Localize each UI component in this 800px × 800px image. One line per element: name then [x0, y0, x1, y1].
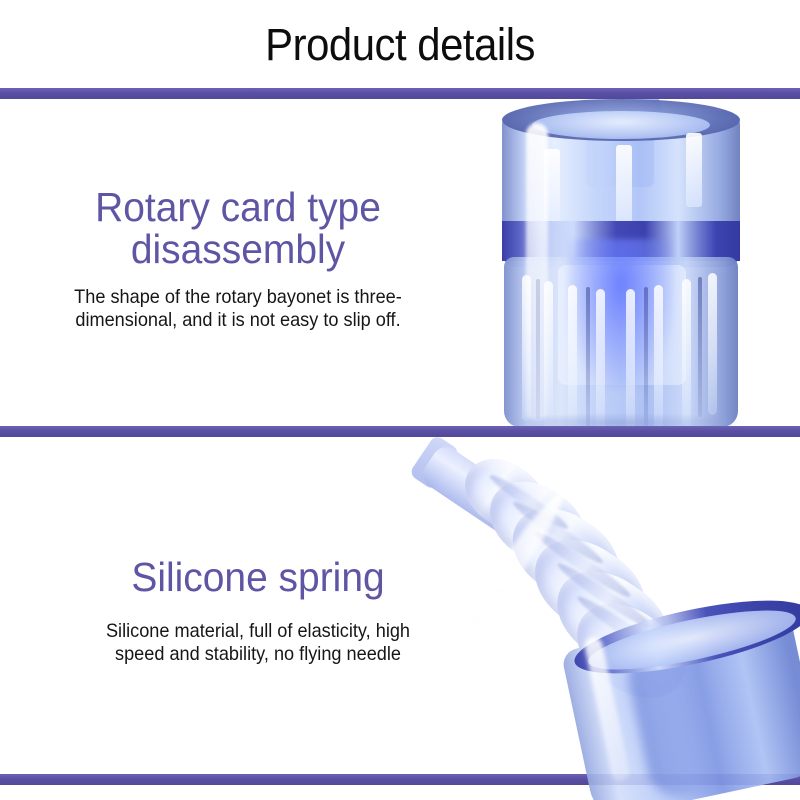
cartridge-rib-shadow [644, 287, 648, 426]
section-silicone-text: Silicone spring Silicone material, full … [48, 556, 468, 666]
section-silicone-body-line2: speed and stability, no flying needle [63, 643, 454, 666]
page-title-bar: Product details [0, 0, 800, 88]
section-rotary-heading-line1: Rotary card type [39, 186, 438, 228]
section-rotary-heading: Rotary card type disassembly [39, 186, 438, 270]
section-silicone-body: Silicone material, full of elasticity, h… [63, 620, 454, 666]
section-rotary-body-line1: The shape of the rotary bayonet is three… [43, 286, 434, 309]
cartridge-illustration [440, 89, 800, 426]
section-silicone-heading-line1: Silicone spring [59, 556, 458, 598]
cartridge-bayonet-notch [686, 133, 702, 207]
cartridge-left-highlight [526, 123, 548, 421]
page-title: Product details [265, 22, 535, 67]
product-details-infographic: Product details [0, 0, 800, 800]
section-rotary-heading-line2: disassembly [39, 228, 438, 270]
cartridge-rib [626, 289, 635, 426]
cartridge-rib [568, 285, 577, 426]
section-rotary-body-line2: dimensional, and it is not easy to slip … [43, 309, 434, 332]
cartridge-collar-inner-ellipse [532, 111, 710, 139]
cartridge-rib-shadow [586, 287, 590, 426]
section-silicone-body-line1: Silicone material, full of elasticity, h… [63, 620, 454, 643]
section-rotary-text: Rotary card type disassembly The shape o… [28, 186, 448, 332]
cartridge-rib [708, 273, 717, 415]
cartridge-rib [682, 279, 691, 426]
section-rotary-body: The shape of the rotary bayonet is three… [43, 286, 434, 332]
section-silicone-heading: Silicone spring [59, 556, 458, 598]
cartridge-base-shadow [500, 413, 744, 426]
cartridge-rib [654, 285, 663, 426]
divider-top [0, 88, 800, 99]
product-image-rotary-cartridge [440, 89, 800, 426]
cartridge-rib [596, 289, 605, 426]
cartridge-rib-shadow [698, 277, 702, 417]
divider-middle [0, 426, 800, 437]
